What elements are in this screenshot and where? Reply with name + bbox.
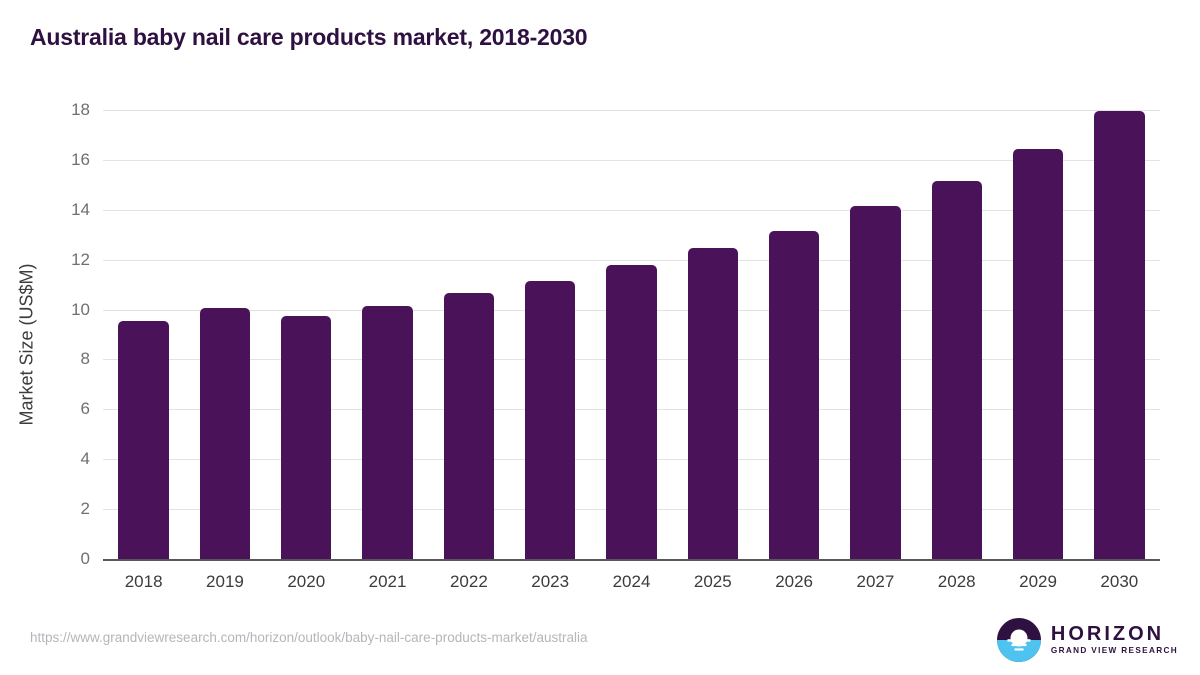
gridline: [103, 260, 1160, 261]
horizon-sun-icon: [996, 617, 1042, 663]
bar[interactable]: [769, 231, 819, 559]
chart-page: Australia baby nail care products market…: [0, 0, 1200, 675]
x-tick-label: 2019: [206, 572, 244, 592]
y-tick-label: 12: [30, 250, 90, 270]
y-tick-label: 16: [30, 150, 90, 170]
y-tick-label: 4: [30, 449, 90, 469]
bar[interactable]: [118, 321, 168, 559]
bar[interactable]: [281, 316, 331, 559]
x-tick-label: 2023: [531, 572, 569, 592]
y-tick-label: 10: [30, 300, 90, 320]
y-tick-label: 0: [30, 549, 90, 569]
bar[interactable]: [1013, 149, 1063, 559]
bar[interactable]: [606, 265, 656, 559]
x-tick-label: 2020: [287, 572, 325, 592]
plot-area: [103, 110, 1160, 559]
bar[interactable]: [932, 181, 982, 559]
bar[interactable]: [200, 308, 250, 559]
bar[interactable]: [688, 248, 738, 559]
x-axis-line: [103, 559, 1160, 561]
x-tick-label: 2026: [775, 572, 813, 592]
x-tick-label: 2025: [694, 572, 732, 592]
x-tick-label: 2018: [125, 572, 163, 592]
x-tick-label: 2027: [857, 572, 895, 592]
y-axis-title: Market Size (US$M): [17, 145, 38, 545]
bar[interactable]: [444, 293, 494, 559]
brand-tagline: GRAND VIEW RESEARCH: [1051, 647, 1178, 655]
bar[interactable]: [850, 206, 900, 559]
x-tick-label: 2028: [938, 572, 976, 592]
brand-name: HORIZON: [1051, 624, 1178, 644]
brand-text: HORIZON GRAND VIEW RESEARCH: [1051, 624, 1178, 655]
gridline: [103, 160, 1160, 161]
x-tick-label: 2030: [1100, 572, 1138, 592]
gridline: [103, 210, 1160, 211]
x-tick-label: 2024: [613, 572, 651, 592]
y-tick-label: 2: [30, 499, 90, 519]
y-tick-label: 14: [30, 200, 90, 220]
brand-logo: HORIZON GRAND VIEW RESEARCH: [996, 617, 1178, 663]
x-tick-label: 2029: [1019, 572, 1057, 592]
x-tick-label: 2022: [450, 572, 488, 592]
y-tick-label: 18: [30, 100, 90, 120]
y-tick-label: 6: [30, 399, 90, 419]
x-tick-label: 2021: [369, 572, 407, 592]
bar[interactable]: [362, 306, 412, 559]
y-tick-label: 8: [30, 349, 90, 369]
bar[interactable]: [525, 281, 575, 559]
bar[interactable]: [1094, 111, 1144, 559]
page-title: Australia baby nail care products market…: [30, 24, 587, 51]
source-url[interactable]: https://www.grandviewresearch.com/horizo…: [30, 630, 588, 645]
gridline: [103, 110, 1160, 111]
